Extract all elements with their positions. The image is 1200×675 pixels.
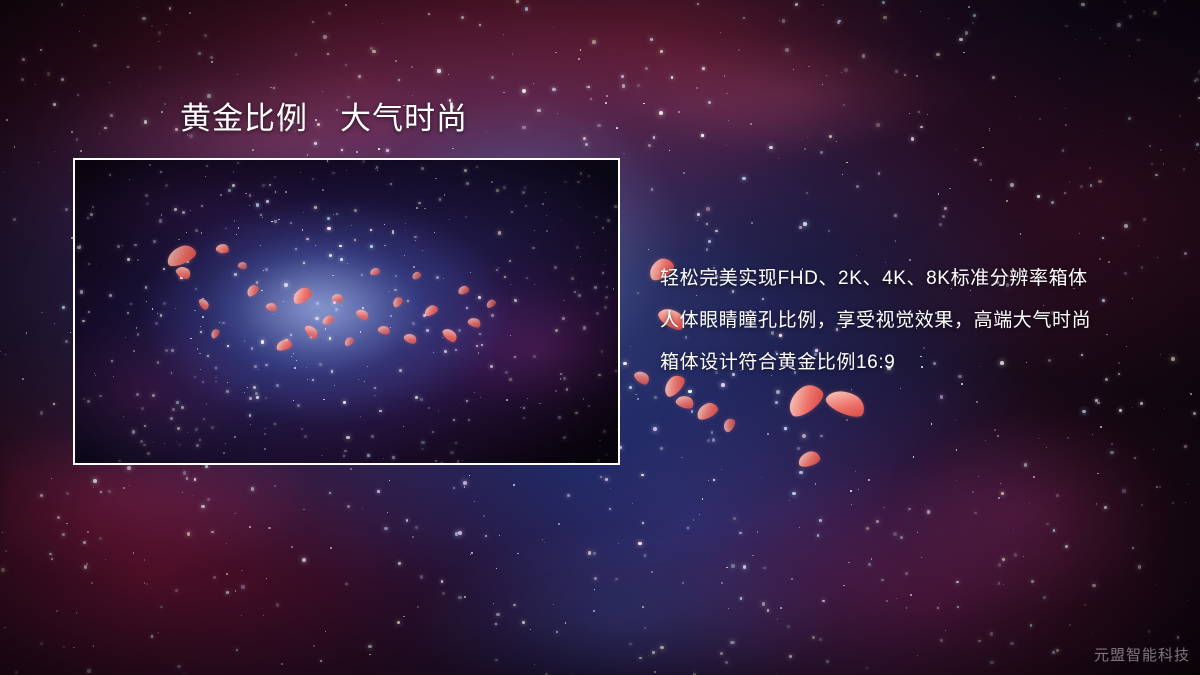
presentation-slide: 黄金比例 大气时尚 轻松完美实现FHD、2K、4K、8K标准分辨率箱体 人体眼睛… — [0, 0, 1200, 675]
image-frame-panel — [73, 158, 620, 465]
body-line-3: 箱体设计符合黄金比例16:9 — [660, 342, 1160, 384]
slide-body-text: 轻松完美实现FHD、2K、4K、8K标准分辨率箱体 人体眼睛瞳孔比例，享受视觉效… — [660, 258, 1160, 384]
body-line-2: 人体眼睛瞳孔比例，享受视觉效果，高端大气时尚 — [660, 300, 1160, 342]
watermark-label: 元盟智能科技 — [1094, 644, 1190, 665]
panel-vignette — [75, 160, 618, 463]
slide-title: 黄金比例 大气时尚 — [180, 101, 468, 137]
body-line-1: 轻松完美实现FHD、2K、4K、8K标准分辨率箱体 — [660, 258, 1160, 300]
